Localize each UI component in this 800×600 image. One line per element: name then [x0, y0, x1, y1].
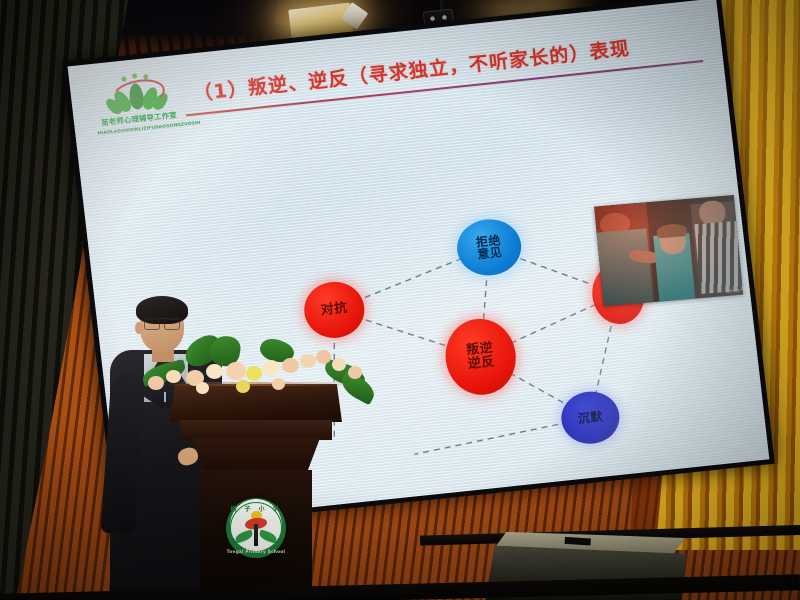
podium-neck [192, 438, 320, 472]
family-argument-photo: 视觉中国 [594, 195, 743, 306]
monitor-handle-slot [565, 537, 591, 546]
eyeglasses [144, 318, 180, 329]
torch-emblem: 桐 子 小 学 Tongzi Primary School [226, 498, 286, 558]
floral-arrangement [140, 336, 390, 406]
speaker-ear [135, 322, 143, 334]
node-label-line1: 沉默 [577, 410, 603, 425]
auditorium-scene: 苗老师心理辅导工作室 MIAOLAOSHIXINLIZIFUDAOGONGZUO… [0, 0, 800, 600]
podium-band [180, 420, 332, 440]
emblem-name-en: Tongzi Primary School [226, 549, 286, 554]
node-label-line2: 逆反 [467, 355, 495, 371]
node-label-line2: 意见 [477, 246, 503, 261]
node-label-line1: 对抗 [320, 302, 348, 318]
